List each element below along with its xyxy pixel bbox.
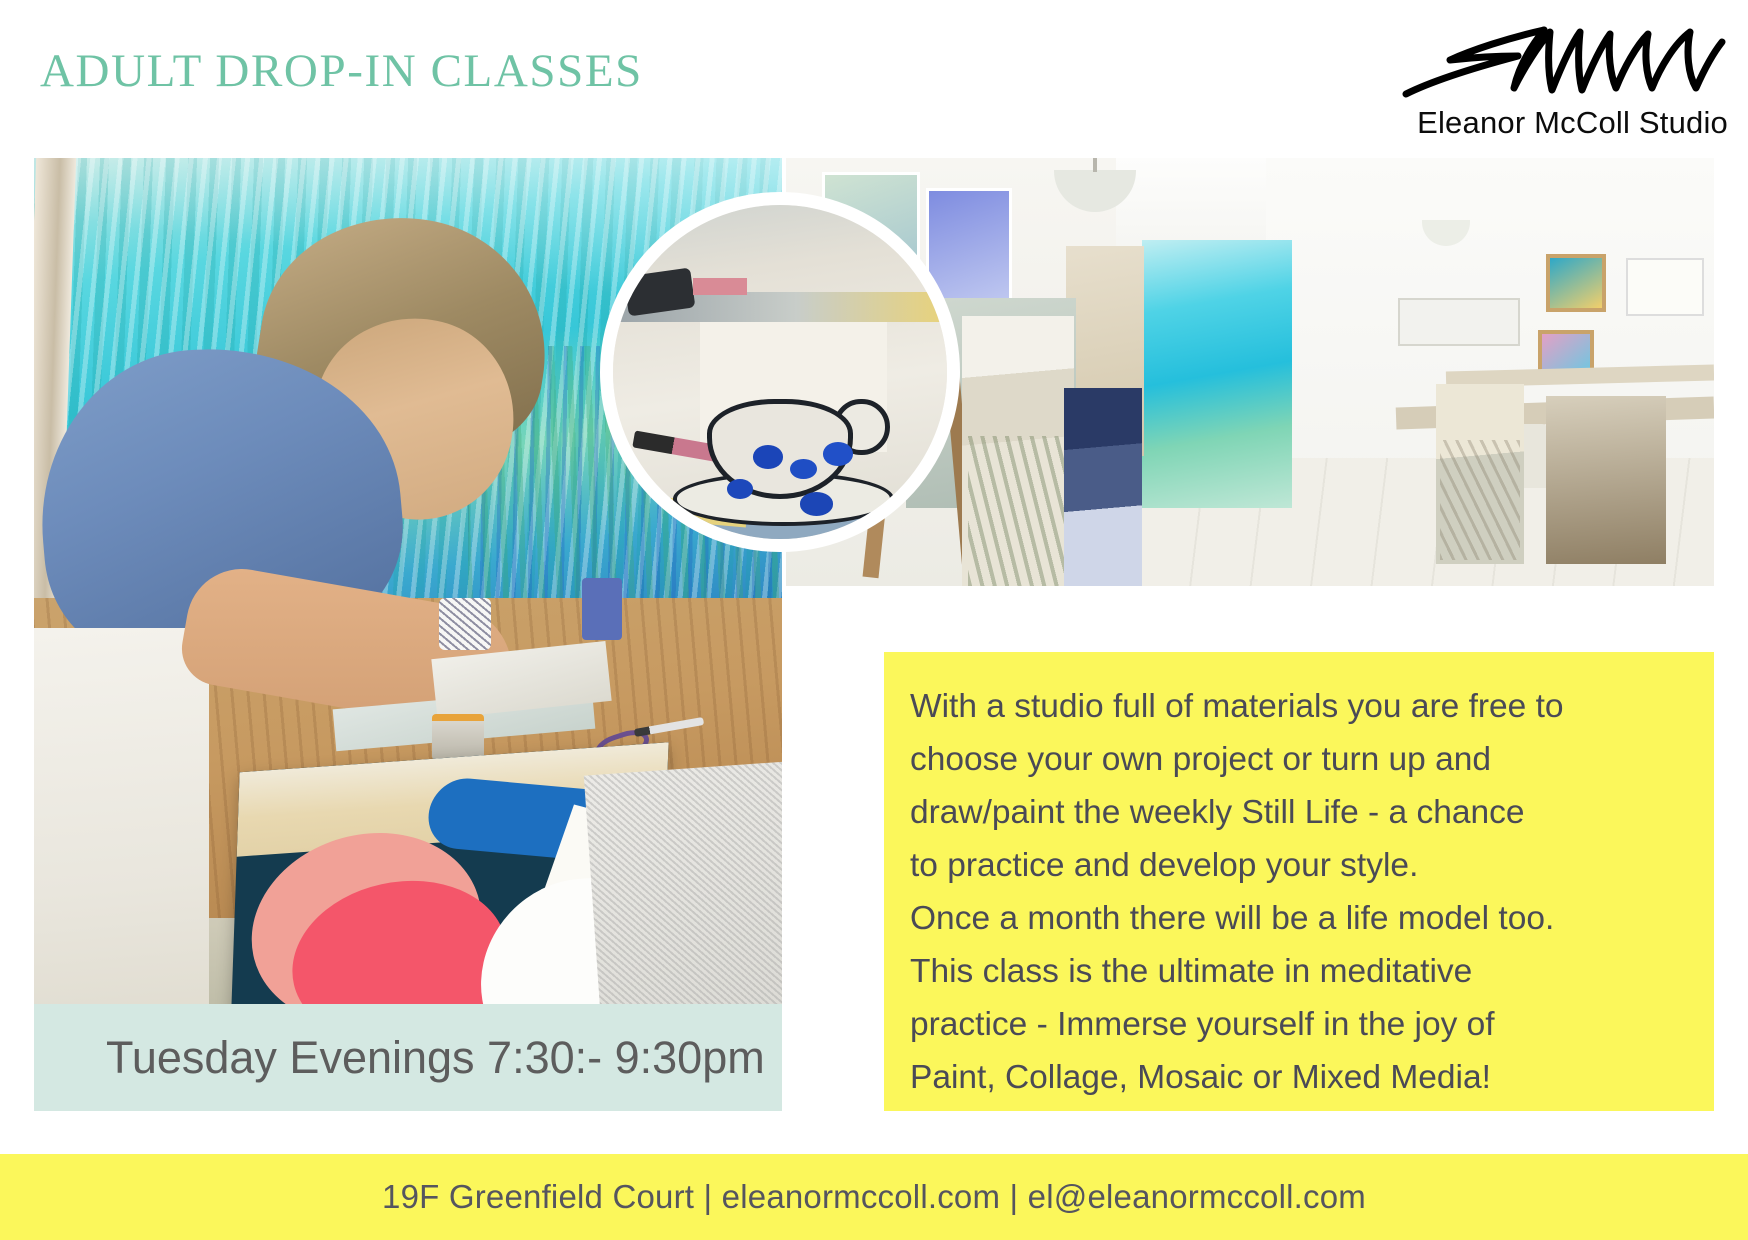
description-line: With a studio full of materials you are …: [910, 680, 1688, 733]
description-line: to practice and develop your style.: [910, 839, 1688, 892]
footer-contact-text: 19F Greenfield Court | eleanormccoll.com…: [382, 1178, 1366, 1216]
photo-right-air-conditioner: [1398, 298, 1520, 346]
photo-left-paint-tin: [432, 714, 484, 760]
description-panel: With a studio full of materials you are …: [884, 652, 1714, 1111]
brand-lockup: Eleanor McColl Studio: [1298, 18, 1728, 141]
description-line: choose your own project or turn up and: [910, 733, 1688, 786]
description-line: draw/paint the weekly Still Life - a cha…: [910, 786, 1688, 839]
schedule-text: Tuesday Evenings 7:30:- 9:30pm: [106, 1004, 765, 1111]
signature-logo-icon: [1398, 18, 1728, 104]
photo-left-mug-blue: [582, 578, 622, 640]
description-line: practice - Immerse yourself in the joy o…: [910, 998, 1688, 1051]
description-line: Once a month there will be a life model …: [910, 892, 1688, 945]
photo-right-artwork-3: [1546, 254, 1606, 312]
photo-right-foreground-bag: [1546, 396, 1666, 564]
photo-right-artwork-4: [1626, 258, 1704, 316]
footer-bar: 19F Greenfield Court | eleanormccoll.com…: [0, 1154, 1748, 1240]
still-life-inset-photo: [600, 192, 960, 552]
brand-name: Eleanor McColl Studio: [1298, 105, 1728, 141]
description-line: Paint, Collage, Mosaic or Mixed Media!: [910, 1051, 1688, 1104]
header: ADULT DROP-IN CLASSES Eleanor McColl Stu…: [0, 0, 1748, 160]
photo-left-mug-patterned: [439, 598, 491, 650]
photo-right-large-blue-painting: [1142, 240, 1292, 508]
photo-right-person-teacher: [962, 316, 1074, 586]
photo-left-cloth: [584, 761, 782, 1004]
photo-left-apron: [34, 628, 209, 1004]
photo-right-person-student-standing: [1436, 384, 1524, 564]
description-line: This class is the ultimate in meditative: [910, 945, 1688, 998]
photo-right-person-girl: [1064, 388, 1142, 586]
page-title: ADULT DROP-IN CLASSES: [40, 44, 643, 98]
schedule-banner: Tuesday Evenings 7:30:- 9:30pm: [34, 1004, 782, 1111]
